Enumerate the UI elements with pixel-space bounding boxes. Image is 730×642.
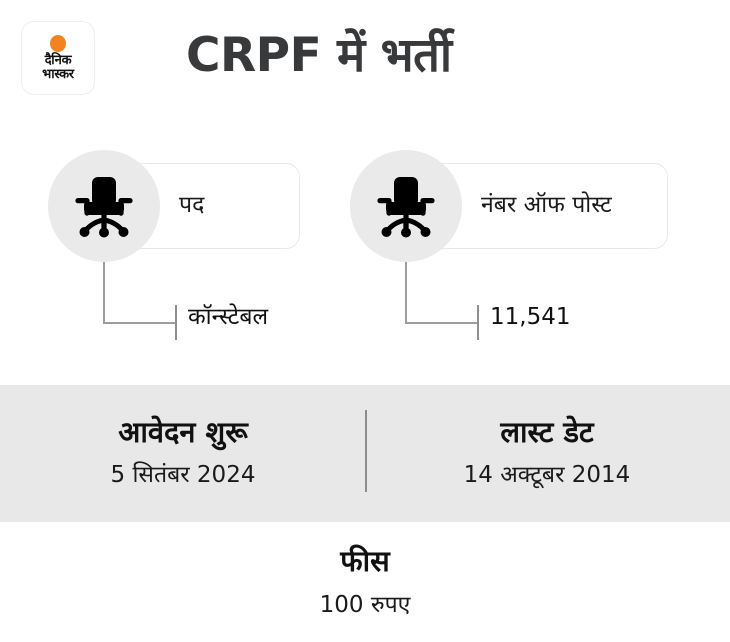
application-start-column: आवेदन शुरू 5 सितंबर 2024 [18,411,348,492]
office-chair-icon [68,170,140,242]
vacancy-connector-tick [477,305,479,340]
post-value: कॉन्स्टेबल [188,302,268,333]
logo-text-line2: भास्कर [42,68,74,81]
post-icon-circle [48,150,160,262]
page-title: CRPF में भर्ती [186,26,452,86]
dates-band: आवेदन शुरू 5 सितंबर 2024 लास्ट डेट 14 अक… [0,385,730,522]
last-date-column: लास्ट डेट 14 अक्टूबर 2014 [382,411,712,492]
vacancy-connector-stem [405,262,407,324]
fee-heading: फीस [0,540,730,584]
last-date-value: 14 अक्टूबर 2014 [382,458,712,493]
sun-icon [50,35,66,52]
last-date-heading: लास्ट डेट [382,411,712,455]
dainik-bhaskar-logo: दैनिक भास्कर [22,22,94,94]
fee-value: 100 रुपए [0,588,730,623]
band-divider [365,410,367,492]
vacancy-value: 11,541 [490,302,570,333]
info-block-vacancy: नंबर ऑफ पोस्ट 1 [350,150,680,365]
header: दैनिक भास्कर CRPF में भर्ती [0,0,730,125]
application-start-heading: आवेदन शुरू [18,411,348,455]
post-connector-run [103,322,176,324]
post-connector-tick [175,305,177,340]
vacancy-connector-run [405,322,478,324]
logo-text-line1: दैनिक [45,54,72,67]
application-start-value: 5 सितंबर 2024 [18,458,348,493]
fee-section: फीस 100 रुपए [0,524,730,642]
post-connector-stem [103,262,105,324]
info-block-post: पद [48,150,348,365]
office-chair-icon [370,170,442,242]
vacancy-icon-circle [350,150,462,262]
